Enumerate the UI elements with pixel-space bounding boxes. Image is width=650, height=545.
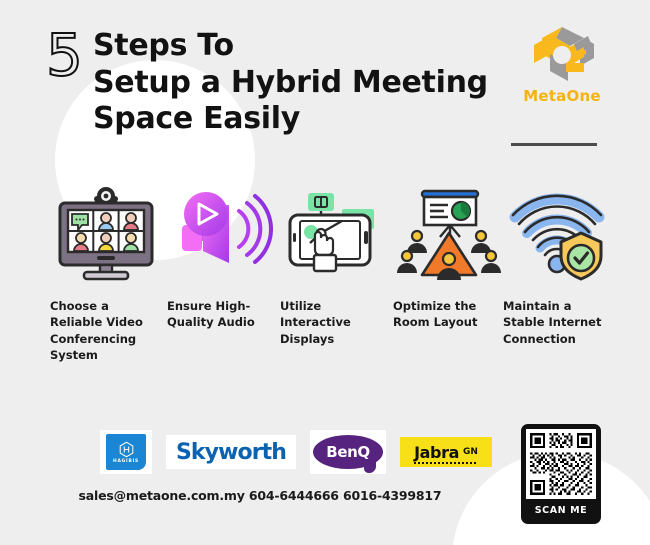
partner-logos-row: HAGIBIS Skyworth BenQ Jabra GN (100, 430, 492, 474)
header: 5 Steps To Setup a Hybrid Meeting Space … (0, 0, 650, 170)
jabra-gn-suffix: GN (463, 447, 478, 457)
step-label-4: Optimize the Room Layout (393, 298, 505, 331)
benq-wordmark: BenQ (326, 443, 369, 461)
infographic-canvas: 5 Steps To Setup a Hybrid Meeting Space … (0, 0, 650, 545)
metaone-logo-icon (526, 24, 598, 86)
page-title: Steps To Setup a Hybrid Meeting Space Ea… (93, 28, 513, 138)
hagibis-wordmark: HAGIBIS (113, 459, 139, 464)
partner-logo-hagibis: HAGIBIS (100, 430, 152, 474)
partner-logo-skyworth: Skyworth (166, 435, 296, 469)
brand-logo: MetaOne (516, 24, 608, 105)
brand-divider (511, 143, 597, 146)
step-item-4: Optimize the Room Layout (393, 180, 505, 331)
hagibis-hexagon-icon (118, 441, 135, 458)
video-conferencing-monitor-icon (50, 180, 162, 285)
step-label-5: Maintain a Stable Internet Connection (503, 298, 615, 347)
step-count-numeral: 5 (46, 26, 83, 84)
step-label-2: Ensure High-Quality Audio (167, 298, 279, 331)
jabra-mark: Jabra GN (400, 437, 492, 467)
qr-code-icon[interactable] (526, 429, 596, 499)
benq-mark: BenQ (313, 435, 383, 469)
speaker-audio-icon (167, 180, 279, 285)
contact-line: sales@metaone.com.my 604-6444666 6016-43… (0, 488, 520, 503)
step-item-5: Maintain a Stable Internet Connection (503, 180, 615, 347)
step-label-3: Utilize Interactive Displays (280, 298, 392, 347)
partner-logo-benq: BenQ (310, 430, 386, 474)
step-item-3: Utilize Interactive Displays (280, 180, 392, 347)
qr-caption: SCAN ME (535, 505, 588, 516)
meeting-room-layout-icon (393, 180, 505, 285)
step-item-1: Choose a Reliable Video Conferencing Sys… (50, 180, 162, 364)
skyworth-wordmark: Skyworth (176, 440, 286, 465)
jabra-underline (414, 462, 478, 464)
title-line-2: Setup a Hybrid Meeting (93, 65, 513, 102)
jabra-wordmark: Jabra (414, 443, 459, 462)
title-line-3: Space Easily (93, 101, 513, 138)
step-item-2: Ensure High-Quality Audio (167, 180, 279, 331)
qr-code-card[interactable]: SCAN ME (521, 424, 601, 524)
title-line-1: Steps To (93, 28, 513, 65)
wifi-shield-secure-icon (503, 180, 615, 285)
step-label-1: Choose a Reliable Video Conferencing Sys… (50, 298, 162, 364)
brand-name: MetaOne (516, 87, 608, 105)
partner-logo-jabra: Jabra GN (400, 437, 492, 467)
steps-row: Choose a Reliable Video Conferencing Sys… (0, 180, 650, 395)
interactive-display-touch-icon (280, 180, 392, 285)
hagibis-mark: HAGIBIS (106, 434, 146, 470)
